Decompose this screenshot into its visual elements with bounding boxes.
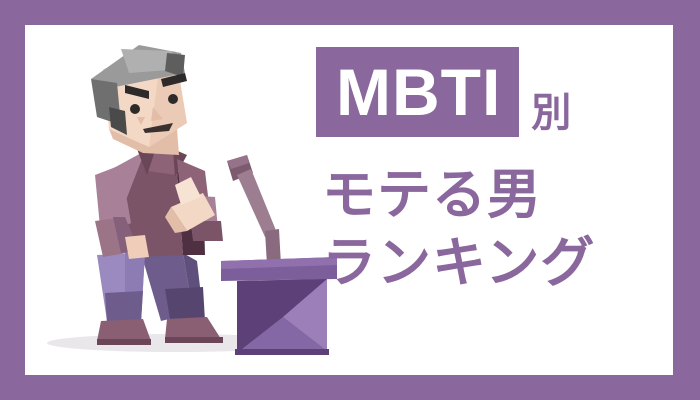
eye-right (168, 94, 178, 104)
thumbnail-card: MBTI 別 モテる男 ランキング (0, 0, 700, 400)
shoe-back (165, 317, 221, 339)
shoe-front (97, 319, 151, 341)
podium-base (235, 349, 329, 355)
cuff-front (105, 291, 143, 323)
thumbnail-canvas: MBTI 別 モテる男 ランキング (25, 25, 673, 375)
man-speaking-at-podium-illustration (25, 25, 345, 375)
badge-suffix-label: 別 (519, 93, 571, 137)
badge-row: MBTI 別 (316, 45, 646, 137)
shoe-front-sole (97, 339, 151, 345)
headline-line-1: モテる男 (322, 167, 646, 223)
headline-block: MBTI 別 モテる男 ランキング (316, 45, 646, 291)
mbti-badge: MBTI (316, 47, 519, 137)
shoe-back-sole (165, 337, 223, 343)
hand-left (125, 235, 149, 259)
eye-left (130, 104, 140, 114)
microphone-arm (237, 169, 277, 237)
headline-line-2: ランキング (322, 235, 646, 291)
